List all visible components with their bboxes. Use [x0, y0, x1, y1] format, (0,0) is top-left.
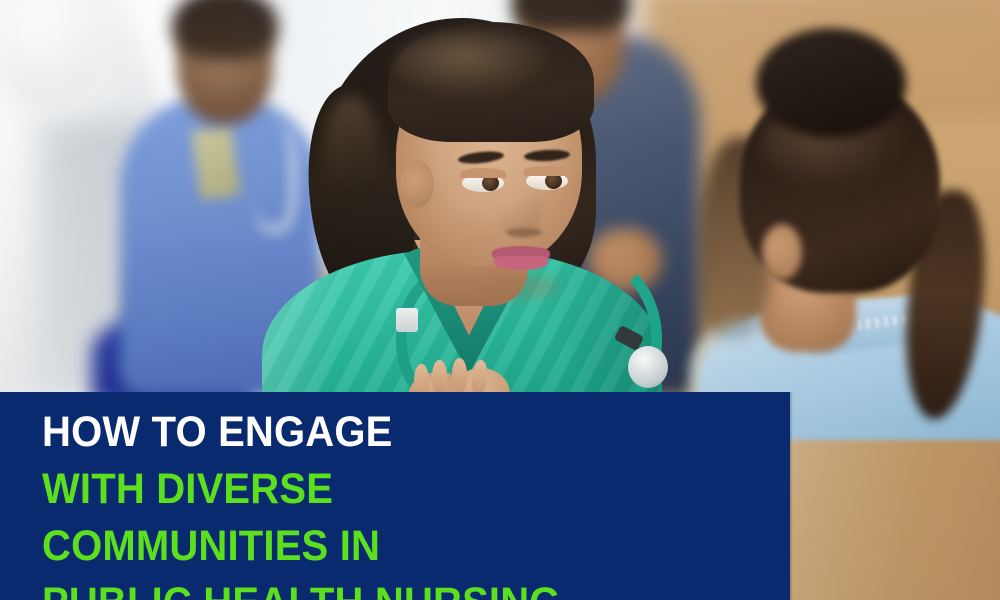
- nurse-ear: [400, 160, 434, 208]
- nurse-left-eyelid: [460, 168, 506, 178]
- hero-poster: HOW TO ENGAGE WITH DIVERSE COMMUNITIES I…: [0, 0, 1000, 600]
- nurse-finger: [432, 360, 447, 394]
- title-line-4: PUBLIC HEALTH NURSING: [42, 575, 721, 600]
- nurse-right-eyelid: [524, 166, 570, 176]
- nurse-nostrils: [506, 228, 542, 237]
- nurse-lower-lip: [494, 256, 548, 270]
- nurse-chin-shading: [480, 274, 560, 300]
- community-member-hair-bun: [756, 28, 906, 138]
- title-banner-edge-shadow: [790, 392, 793, 600]
- background-nurse-stethoscope: [252, 124, 298, 234]
- title-banner-text-block: HOW TO ENGAGE WITH DIVERSE COMMUNITIES I…: [42, 404, 772, 600]
- title-banner: HOW TO ENGAGE WITH DIVERSE COMMUNITIES I…: [0, 392, 790, 600]
- stethoscope-chestpiece: [628, 346, 668, 388]
- background-nurse-hair: [172, 0, 278, 60]
- community-member-ear: [762, 224, 802, 280]
- stethoscope-clip: [396, 308, 418, 332]
- title-line-2: WITH DIVERSE: [42, 461, 721, 518]
- title-line-1: HOW TO ENGAGE: [42, 404, 721, 461]
- nurse-finger: [452, 358, 467, 392]
- nurse-hair-highlight: [392, 30, 562, 100]
- title-line-3: COMMUNITIES IN: [42, 518, 721, 575]
- nurse-ponytail-highlight: [322, 96, 380, 216]
